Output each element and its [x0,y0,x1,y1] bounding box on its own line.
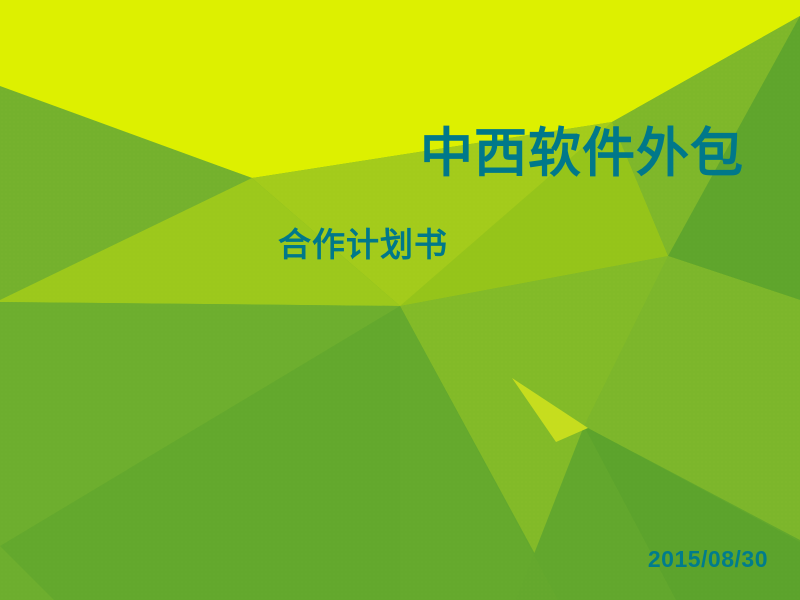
presentation-slide: 中西软件外包 合作计划书 2015/08/30 [0,0,800,600]
slide-subtitle: 合作计划书 [278,228,448,263]
slide-text-layer: 中西软件外包 合作计划书 2015/08/30 [0,0,800,600]
slide-date: 2015/08/30 [500,546,768,573]
page-title: 中西软件外包 [420,127,780,181]
